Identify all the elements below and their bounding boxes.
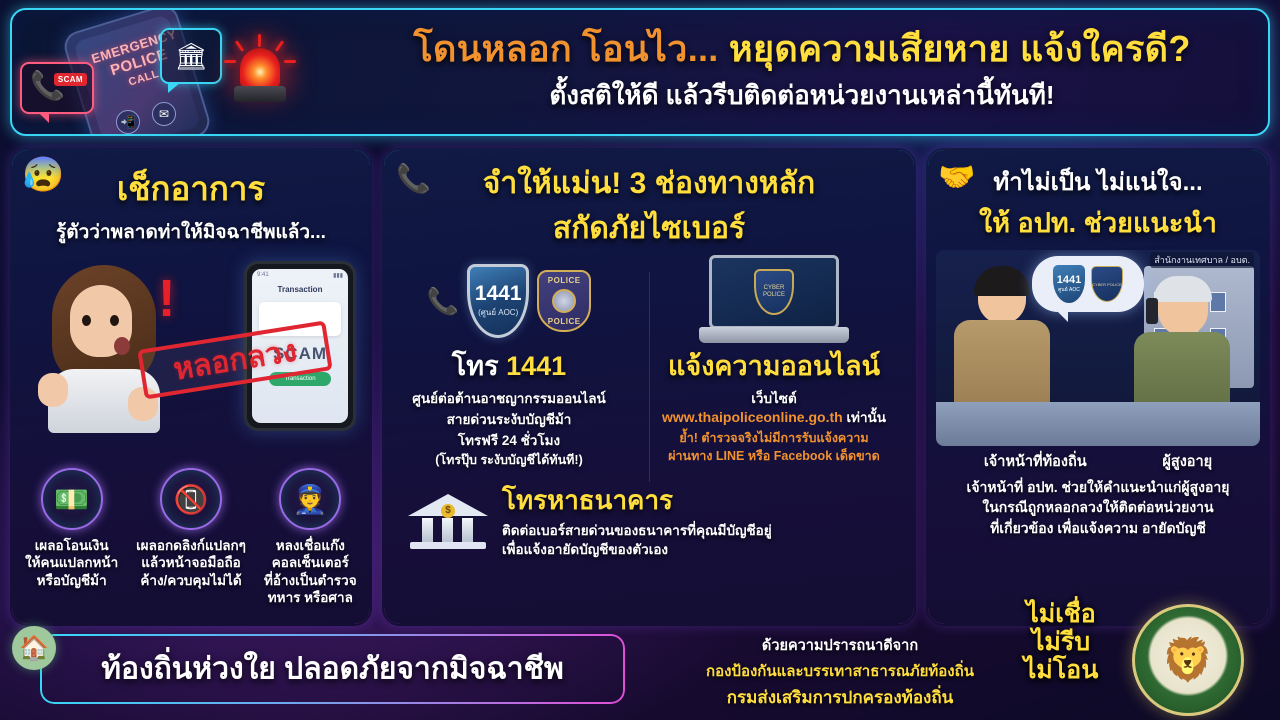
channel-1441-line-1: ศูนย์ต่อต้านอาชญากรรมออนไลน์ <box>392 389 626 408</box>
right-panel-body-line2: ในกรณีถูกหลอกลวงให้ติดต่อหน่วยงาน <box>938 497 1258 517</box>
middle-panel-header: 📞 จำให้แม่น! 3 ช่องทางหลัก สกัดภัยไซเบอร… <box>384 150 914 252</box>
middle-panel-title-line1: จำให้แม่น! 3 ช่องทางหลัก <box>394 160 904 207</box>
ringing-phone-icon: 📞 <box>427 286 459 317</box>
hero-text-block: โดนหลอก โอนไว... หยุดความเสียหาย แจ้งใคร… <box>352 28 1252 116</box>
page-subtitle: ตั้งสติให้ดี แล้วรีบติดต่อหน่วยงานเหล่าน… <box>352 75 1252 116</box>
bubble-shield-1441-icon: 1441 ศูนย์ AOC <box>1053 265 1085 303</box>
shield-1441-icon: 1441 (ศูนย์ AOC) <box>467 264 529 338</box>
police-badge-top-text: POLICE <box>548 276 581 285</box>
page-title-part1: โดนหลอก โอนไว... <box>413 28 718 69</box>
incoming-call-icon: 📲 <box>116 110 140 134</box>
left-panel-title: เช็กอาการ <box>20 162 362 215</box>
panel-three-channels: 📞 จำให้แม่น! 3 ช่องทางหลัก สกัดภัยไซเบอร… <box>382 148 916 626</box>
channel-online-heading: แจ้งความออนไลน์ <box>642 344 906 387</box>
hero-banner: EMERGENCY POLICE CALL 📞 SCAM 🏛 📲 ✉ <box>10 8 1270 136</box>
building-label: สำนักงานเทศบาล / อบต. <box>1150 252 1254 268</box>
police-badge-icon: POLICE POLICE <box>537 270 591 332</box>
list-item: 💵 เผลอโอนเงิน ให้คนแปลกหน้า หรือบัญชีม้า <box>12 468 131 606</box>
channel-online-warning-line2: ผ่านทาง LINE หรือ Facebook เด็ดขาด <box>642 448 906 466</box>
left-panel-header: 😰 เช็กอาการ รู้ตัวว่าพลาดท่าให้มิจฉาชีพแ… <box>12 150 370 247</box>
laptop-with-cyber-police-badge-icon: CYBER POLICE <box>699 255 849 347</box>
list-item-label: เผลอโอนเงิน ให้คนแปลกหน้า หรือบัญชีม้า <box>16 537 127 589</box>
right-panel-title-line1: ทำไม่เป็น ไม่แน่ใจ... <box>938 162 1258 201</box>
slogan-line-3: ไม่โอน <box>1006 656 1116 684</box>
phone-status-icons: ▮▮▮ <box>333 272 343 279</box>
dollar-coin-icon: $ <box>441 504 455 518</box>
handshake-emoji: 🤝 <box>938 160 975 195</box>
mobile-phone-icon <box>1146 298 1158 324</box>
department-of-local-administration-seal: 🦁 <box>1132 604 1244 716</box>
channel-1441: 📞 1441 (ศูนย์ AOC) POLICE POLICE โทร 144… <box>384 258 634 470</box>
scam-victim-illustration: ! 9:41 ▮▮▮ Transaction SCAM Transaction … <box>12 251 370 433</box>
channel-online-website-label: เว็บไซต์ <box>642 389 906 408</box>
elderly-person-figure <box>1134 280 1230 420</box>
right-panel-body-line1: เจ้าหน้าที่ อปท. ช่วยให้คำแนะนำแก่ผู้สูง… <box>938 477 1258 497</box>
figure-labels: เจ้าหน้าที่ท้องถิ่น ผู้สูงอายุ <box>928 450 1268 473</box>
channel-1441-line-2: สายด่วนระงับบัญชีม้า <box>392 410 626 429</box>
house-with-heart-icon: 🏠 <box>12 626 56 670</box>
scam-call-bubble: 📞 SCAM <box>20 62 94 114</box>
panel-local-help: 🤝 ทำไม่เป็น ไม่แน่ใจ... ให้ อปท. ช่วยแนะ… <box>926 148 1270 626</box>
local-office-illustration: สำนักงานเทศบาล / อบต. 1441 ศูนย์ AOC CYB… <box>936 250 1260 446</box>
speech-bubble: 1441 ศูนย์ AOC CYBER POLICE <box>1032 256 1144 312</box>
bubble-cyber-police-badge-icon: CYBER POLICE <box>1091 266 1123 302</box>
list-item: 👮 หลงเชื่อแก๊ง คอลเซ็นเตอร์ ที่อ้างเป็นต… <box>251 468 370 606</box>
scam-badge: SCAM <box>54 73 87 86</box>
anxious-face-with-sweat-emoji: 😰 <box>22 158 64 192</box>
channel-bank: $ โทรหาธนาคาร ติดต่อเบอร์สายด่วนของธนาคา… <box>384 474 914 559</box>
footer-slogan-bar: ท้องถิ่นห่วงใย ปลอดภัยจากมิจฉาชีพ <box>40 634 625 704</box>
symptom-list: 💵 เผลอโอนเงิน ให้คนแปลกหน้า หรือบัญชีม้า… <box>12 468 370 606</box>
channel-online-report: CYBER POLICE แจ้งความออนไลน์ เว็บไซต์ ww… <box>634 258 914 470</box>
channel-1441-heading: โทร 1441 <box>392 344 626 387</box>
label-local-officer: เจ้าหน้าที่ท้องถิ่น <box>984 450 1087 473</box>
channel-1441-icons: 📞 1441 (ศูนย์ AOC) POLICE POLICE <box>392 258 626 344</box>
channel-1441-note: (โทรปุ๊บ ระงับบัญชีได้ทันที!) <box>392 452 626 470</box>
channel-bank-line2: เพื่อแจ้งอายัดบัญชีของตัวเอง <box>502 540 772 559</box>
exclamation-mark-icon: ! <box>158 273 175 325</box>
thaipoliceonline-url[interactable]: www.thaipoliceonline.go.th <box>662 409 843 425</box>
channel-online-website-row: www.thaipoliceonline.go.th เท่านั้น <box>642 408 906 427</box>
credit-line-2: กองป้องกันและบรรเทาสาธารณภัยท้องถิ่น <box>660 659 1020 683</box>
shield-subtitle: (ศูนย์ AOC) <box>478 306 518 319</box>
footer-slogan: ท้องถิ่นห่วงใย ปลอดภัยจากมิจฉาชีพ <box>42 646 623 693</box>
slogan-line-1: ไม่เชื่อ <box>1006 600 1116 628</box>
label-elderly: ผู้สูงอายุ <box>1162 450 1212 473</box>
hand-holding-money-icon: 💵 <box>41 468 103 530</box>
cyber-police-badge-text: CYBER POLICE <box>754 269 794 315</box>
police-badge-bottom-text: POLICE <box>548 317 581 326</box>
list-item-label: หลงเชื่อแก๊ง คอลเซ็นเตอร์ ที่อ้างเป็นตำร… <box>255 537 366 606</box>
bubble-shield-sub: ศูนย์ AOC <box>1058 286 1080 294</box>
footer-credits: ด้วยความปรารถนาดีจาก กองป้องกันและบรรเทา… <box>660 634 1020 711</box>
channels-row: 📞 1441 (ศูนย์ AOC) POLICE POLICE โทร 144… <box>384 258 914 470</box>
fake-police-call-icon: 👮 <box>279 468 341 530</box>
panel-check-symptoms: 😰 เช็กอาการ รู้ตัวว่าพลาดท่าให้มิจฉาชีพแ… <box>10 148 372 626</box>
bank-building-icon: $ <box>408 490 488 550</box>
left-panel-subtitle: รู้ตัวว่าพลาดท่าให้มิจฉาชีพแล้ว... <box>20 217 362 247</box>
channel-bank-heading: โทรหาธนาคาร <box>502 480 772 521</box>
middle-panel-title-line2: สกัดภัยไซเบอร์ <box>394 205 904 252</box>
right-panel-header: 🤝 ทำไม่เป็น ไม่แน่ใจ... ให้ อปท. ช่วยแนะ… <box>928 150 1268 244</box>
channel-1441-heading-prefix: โทร <box>452 351 506 381</box>
transaction-screen-title: Transaction <box>252 285 348 294</box>
channel-1441-line-3: โทรฟรี 24 ชั่วโมง <box>392 431 626 450</box>
right-panel-title-line2: ให้ อปท. ช่วยแนะนำ <box>938 201 1258 244</box>
right-panel-body: เจ้าหน้าที่ อปท. ช่วยให้คำแนะนำแก่ผู้สูง… <box>928 477 1268 538</box>
channel-1441-number: 1441 <box>506 351 566 381</box>
credit-line-1: ด้วยความปรารถนาดีจาก <box>660 634 1020 657</box>
channel-bank-text: โทรหาธนาคาร ติดต่อเบอร์สายด่วนของธนาคารท… <box>502 480 772 559</box>
channel-bank-line1: ติดต่อเบอร์สายด่วนของธนาคารที่คุณมีบัญชี… <box>502 521 772 540</box>
channel-online-warning-line1: ย้ำ! ตำรวจจริงไม่มีการรับแจ้งความ <box>642 430 906 448</box>
list-item: 📵 เผลอกดลิงก์แปลกๆ แล้วหน้าจอมือถือ ค้าง… <box>131 468 250 606</box>
phone-status-time: 9:41 <box>257 272 269 279</box>
channel-online-icon: CYBER POLICE <box>642 258 906 344</box>
credit-line-3: กรมส่งเสริมการปกครองท้องถิ่น <box>660 684 1020 711</box>
slogan-line-2: ไม่รีบ <box>1006 628 1116 656</box>
right-panel-body-line3: ที่เกี่ยวข้อง เพื่อแจ้งความ อายัดบัญชี <box>938 518 1258 538</box>
service-counter <box>936 402 1260 446</box>
channel-online-website-suffix: เท่านั้น <box>843 410 886 425</box>
bubble-shield-number: 1441 <box>1057 275 1081 286</box>
lion-emblem-icon: 🦁 <box>1162 636 1214 685</box>
shield-number: 1441 <box>475 283 522 304</box>
list-item-label: เผลอกดลิงก์แปลกๆ แล้วหน้าจอมือถือ ค้าง/ค… <box>135 537 246 589</box>
page-title-part2: หยุดความเสียหาย แจ้งใครดี? <box>719 28 1191 69</box>
green-telephone-emoji: 📞 <box>396 162 431 195</box>
bank-building-icon: 🏛 <box>174 41 207 72</box>
envelope-icon: ✉ <box>152 102 176 126</box>
phone-with-red-x-icon: 📵 <box>160 468 222 530</box>
bank-bubble: 🏛 <box>160 28 222 84</box>
emergency-siren-icon <box>234 48 286 106</box>
infographic-root: EMERGENCY POLICE CALL 📞 SCAM 🏛 📲 ✉ <box>0 0 1280 720</box>
footer-right-slogan: ไม่เชื่อ ไม่รีบ ไม่โอน <box>1006 600 1116 684</box>
hero-illustration: EMERGENCY POLICE CALL 📞 SCAM 🏛 📲 ✉ <box>12 10 342 134</box>
page-title: โดนหลอก โอนไว... หยุดความเสียหาย แจ้งใคร… <box>352 28 1252 69</box>
